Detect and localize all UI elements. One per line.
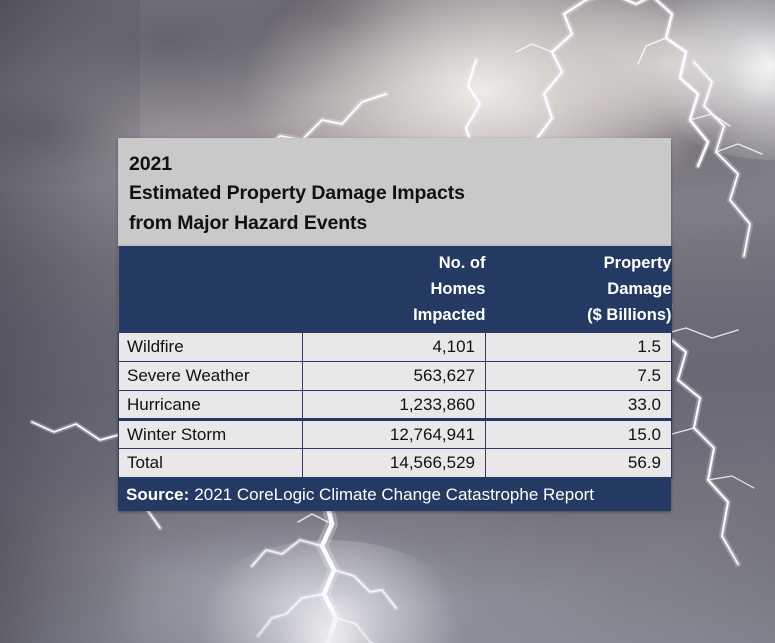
card-title-panel: 2021 Estimated Property Damage Impacts f…	[118, 138, 671, 246]
table-header-row: No. of Homes Impacted Property Damage ($…	[119, 246, 672, 333]
column-header-damage-line-1: Property	[486, 250, 672, 276]
cell-homes: 4,101	[303, 333, 486, 362]
table-row: Hurricane 1,233,860 33.0	[119, 391, 672, 420]
page-title-year: 2021	[129, 150, 671, 179]
cell-damage-total: 56.9	[486, 449, 672, 478]
cell-damage: 33.0	[486, 391, 672, 420]
cell-hazard: Wildfire	[119, 333, 303, 362]
column-header-homes-line-1: No. of	[303, 250, 486, 276]
table-row: Winter Storm 12,764,941 15.0	[119, 420, 672, 449]
column-header-homes-line-2: Homes	[303, 276, 486, 302]
table-body: Wildfire 4,101 1.5 Severe Weather 563,62…	[119, 333, 672, 478]
cell-hazard: Severe Weather	[119, 362, 303, 391]
page-title-line-2: Estimated Property Damage Impacts	[129, 179, 671, 208]
table-row: Severe Weather 563,627 7.5	[119, 362, 672, 391]
column-header-hazard	[119, 246, 303, 333]
column-header-damage-line-3: ($ Billions)	[486, 302, 672, 328]
page-title-line-3: from Major Hazard Events	[129, 209, 671, 238]
cell-damage: 1.5	[486, 333, 672, 362]
column-header-property-damage: Property Damage ($ Billions)	[486, 246, 672, 333]
source-label: Source:	[126, 485, 189, 505]
cell-hazard-total: Total	[119, 449, 303, 478]
column-header-damage-line-2: Damage	[486, 276, 672, 302]
hazard-damage-table: No. of Homes Impacted Property Damage ($…	[118, 246, 672, 479]
screenshot-stage: 2021 Estimated Property Damage Impacts f…	[0, 0, 775, 643]
table-header: No. of Homes Impacted Property Damage ($…	[119, 246, 672, 333]
table-row: Wildfire 4,101 1.5	[119, 333, 672, 362]
cell-homes: 563,627	[303, 362, 486, 391]
source-text: 2021 CoreLogic Climate Change Catastroph…	[194, 485, 594, 505]
cell-homes: 12,764,941	[303, 420, 486, 449]
column-header-homes-line-3: Impacted	[303, 302, 486, 328]
cell-damage: 15.0	[486, 420, 672, 449]
column-header-homes-impacted: No. of Homes Impacted	[303, 246, 486, 333]
cell-hazard: Winter Storm	[119, 420, 303, 449]
source-footer: Source: 2021 CoreLogic Climate Change Ca…	[118, 478, 671, 511]
cell-damage: 7.5	[486, 362, 672, 391]
cell-homes-total: 14,566,529	[303, 449, 486, 478]
table-row-total: Total 14,566,529 56.9	[119, 449, 672, 478]
cell-homes: 1,233,860	[303, 391, 486, 420]
cell-hazard: Hurricane	[119, 391, 303, 420]
hazard-damage-table-card: 2021 Estimated Property Damage Impacts f…	[118, 138, 671, 511]
